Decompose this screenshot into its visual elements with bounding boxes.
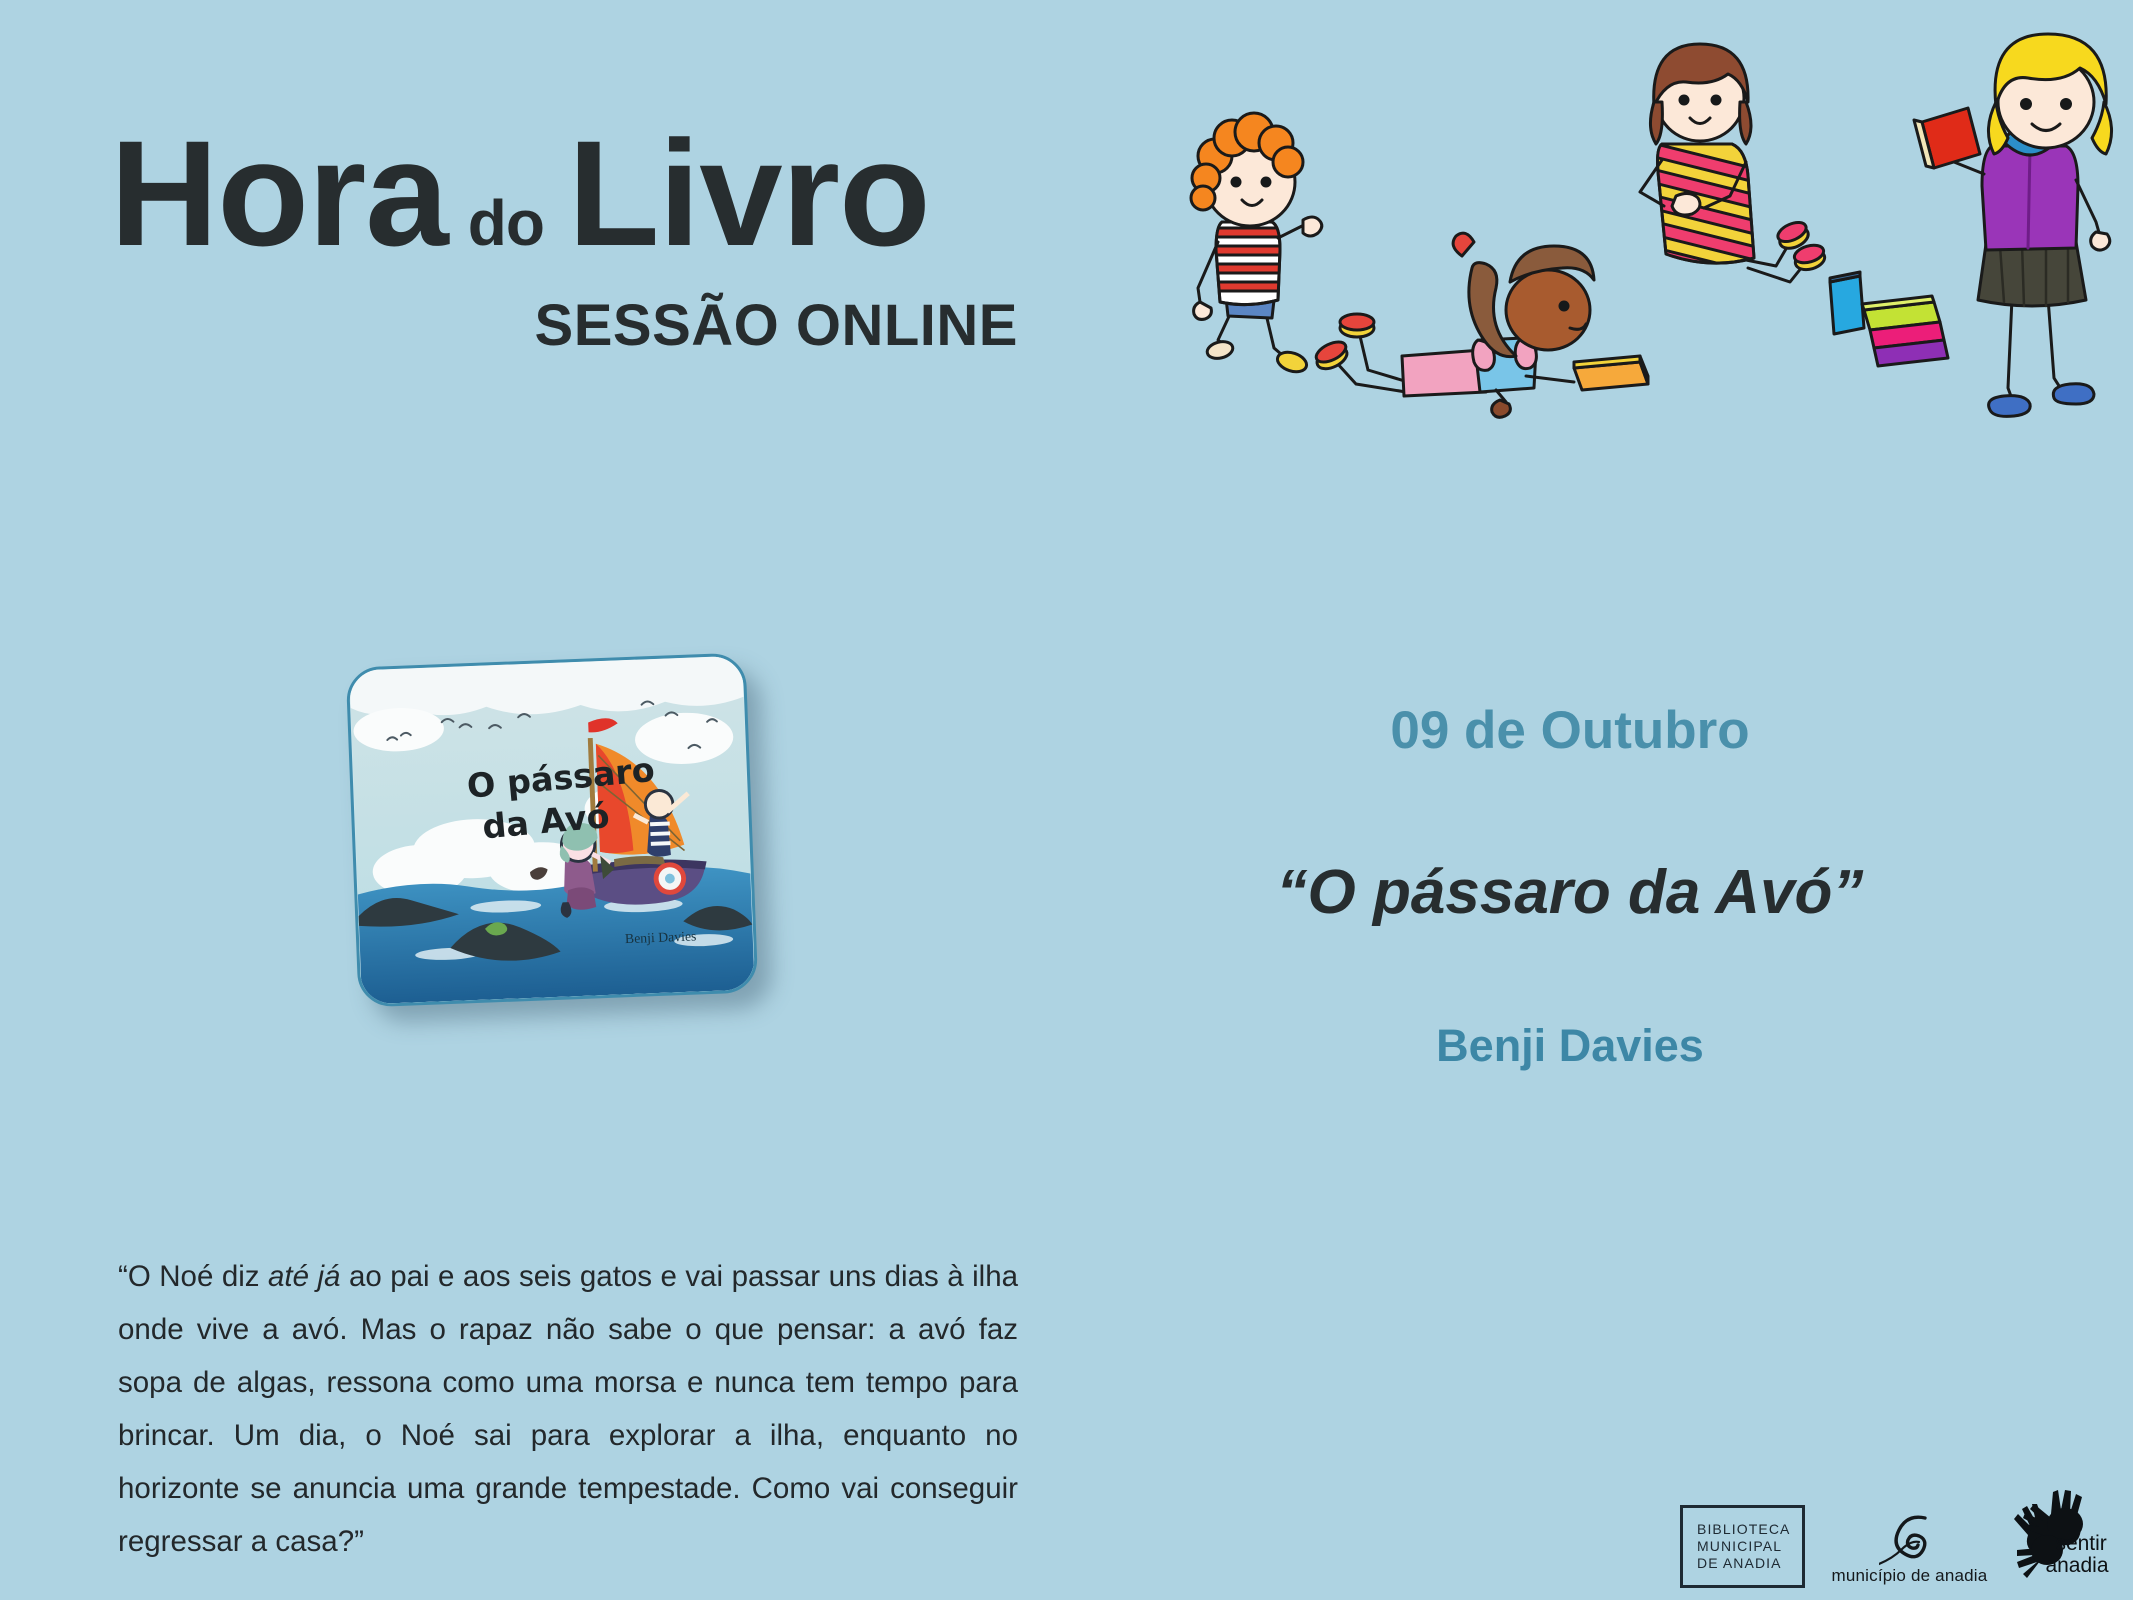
svg-text:Benji Davies: Benji Davies [625,928,697,946]
session-author: Benji Davies [1120,1020,2020,1072]
title-word-livro: Livro [568,109,930,277]
synopsis-italic-phrase: até já [268,1260,340,1293]
logo-sentir-anadia: sentir anadia [2013,1482,2109,1586]
book-synopsis: “O Noé diz até já ao pai e aos seis gato… [118,1250,1018,1568]
book-stack [1830,272,1948,366]
figure-girl-pink-yellow-stripes [1637,44,1827,288]
session-info: 09 de Outubro “O pássaro da Avó” Benji D… [1120,700,2020,1072]
title-word-hora: Hora [110,109,448,277]
logo-biblioteca-municipal-de-anadia: BIBLIOTECA MUNICIPAL DE ANADIA [1680,1505,1805,1588]
logo-row: BIBLIOTECA MUNICIPAL DE ANADIA município… [1680,1448,2110,1588]
sentir-line-1: sentir [2055,1532,2106,1556]
synopsis-part1: “O Noé diz [118,1260,268,1293]
spiral-icon [1879,1512,1939,1570]
session-book-title: “O pássaro da Avó” [1120,857,2020,928]
book-cover-image: O pássaro da Avó Benji Davies [352,660,752,1020]
figure-boy-red-stripes [1191,113,1322,375]
session-date: 09 de Outubro [1120,700,2020,761]
synopsis-part2: ao pai e aos seis gatos e vai passar uns… [118,1260,1018,1558]
logo-municipio-de-anadia: município de anadia [1831,1512,1987,1586]
children-reading-illustration [1170,10,2130,470]
page-title: HoradoLivro [110,118,1110,268]
poster-subtitle: SESSÃO ONLINE [110,292,1110,359]
biblioteca-line-1: BIBLIOTECA [1697,1521,1790,1538]
biblioteca-line-3: DE ANADIA [1697,1555,1790,1572]
sentir-line-2: anadia [2045,1554,2108,1578]
biblioteca-line-2: MUNICIPAL [1697,1538,1790,1555]
municipio-label: município de anadia [1831,1566,1987,1586]
figure-girl-lying-reading [1313,233,1648,417]
poster-header: HoradoLivro SESSÃO ONLINE [110,118,1110,359]
title-word-do: do [448,187,558,259]
